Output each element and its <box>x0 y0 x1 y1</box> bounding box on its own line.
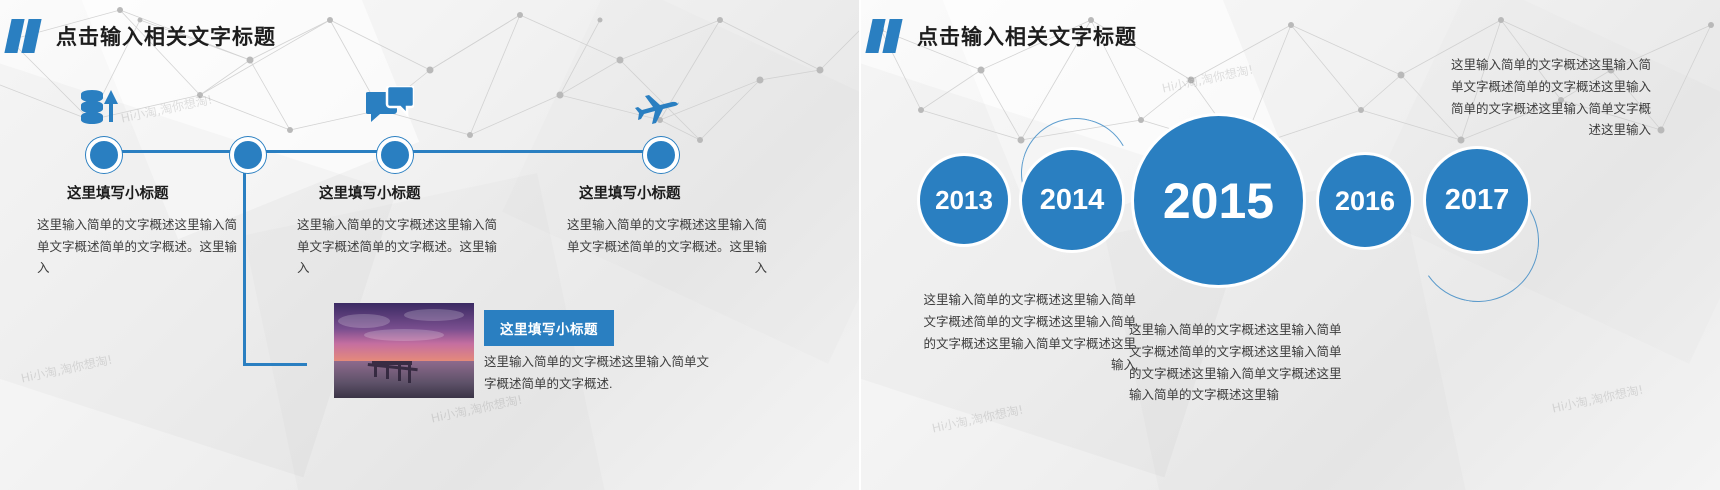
slide-title-row: 点击输入相关文字标题 <box>869 18 1137 54</box>
block-body: 这里输入简单的文字概述这里输入简单文字概述简单的文字概述。这里输入 <box>557 215 767 280</box>
watermark: Hi小淘,淘你想淘! <box>1160 61 1254 97</box>
chat-bubbles-icon <box>366 86 414 133</box>
page-title: 点击输入相关文字标题 <box>56 21 276 51</box>
title-accent-bars <box>869 19 903 53</box>
timeline-node[interactable] <box>230 137 266 173</box>
pier-sunset-photo <box>334 303 474 398</box>
timeline-block: 这里填写小标题 这里输入简单的文字概述这里输入简单文字概述简单的文字概述。这里输… <box>37 182 247 280</box>
timeline-block: 这里填写小标题 这里输入简单的文字概述这里输入简单文字概述简单的文字概述。这里输… <box>297 182 507 280</box>
slide-right: 点击输入相关文字标题 2013 2014 2015 2016 2017 这里输入… <box>861 0 1720 490</box>
year-circle-2017[interactable]: 2017 <box>1423 146 1531 254</box>
title-accent-bars <box>8 19 42 53</box>
timeline-block: 这里填写小标题 这里输入简单的文字概述这里输入简单文字概述简单的文字概述。这里输… <box>557 182 767 280</box>
paragraph-top-right: 这里输入简单的文字概述这里输入简单文字概述简单的文字概述这里输入简单的文字概述这… <box>1441 55 1651 142</box>
accent-bar-icon <box>882 19 902 53</box>
block-body: 这里输入简单的文字概述这里输入简单文字概述简单的文字概述。这里输入 <box>37 215 247 280</box>
paragraph-middle: 这里输入简单的文字概述这里输入简单文字概述简单的文字概述这里输入简单的文字概述这… <box>1129 320 1344 407</box>
timeline-node[interactable] <box>377 137 413 173</box>
block-heading: 这里填写小标题 <box>297 182 507 203</box>
slide-title-row: 点击输入相关文字标题 <box>8 18 276 54</box>
year-circle-2013[interactable]: 2013 <box>917 153 1011 247</box>
block-body: 这里输入简单的文字概述这里输入简单文字概述简单的文字概述。这里输入 <box>297 215 507 280</box>
airplane-icon <box>633 86 681 133</box>
timeline-node[interactable] <box>643 137 679 173</box>
block-heading: 这里填写小标题 <box>557 182 767 203</box>
year-circle-2015[interactable]: 2015 <box>1131 113 1306 288</box>
coins-growth-icon <box>76 86 124 133</box>
watermark: Hi小淘,淘你想淘! <box>19 351 113 387</box>
page-title: 点击输入相关文字标题 <box>917 21 1137 51</box>
timeline-node[interactable] <box>86 137 122 173</box>
timeline-connector-horizontal <box>243 363 307 366</box>
watermark: Hi小淘,淘你想淘! <box>1550 381 1644 417</box>
year-circle-2014[interactable]: 2014 <box>1019 147 1125 253</box>
watermark: Hi小淘,淘你想淘! <box>119 91 213 127</box>
callout-body: 这里输入简单的文字概述这里输入简单文字概述简单的文字概述. <box>484 352 714 395</box>
paragraph-left: 这里输入简单的文字概述这里输入简单文字概述简单的文字概述这里输入简单的文字概述这… <box>921 290 1136 377</box>
slide-deck: 点击输入相关文字标题 <box>0 0 1720 490</box>
accent-bar-icon <box>21 19 41 53</box>
block-heading: 这里填写小标题 <box>37 182 247 203</box>
watermark: Hi小淘,淘你想淘! <box>930 401 1024 437</box>
slide-left: 点击输入相关文字标题 <box>0 0 861 490</box>
callout-tag: 这里填写小标题 <box>484 310 614 346</box>
year-circle-2016[interactable]: 2016 <box>1316 152 1414 250</box>
